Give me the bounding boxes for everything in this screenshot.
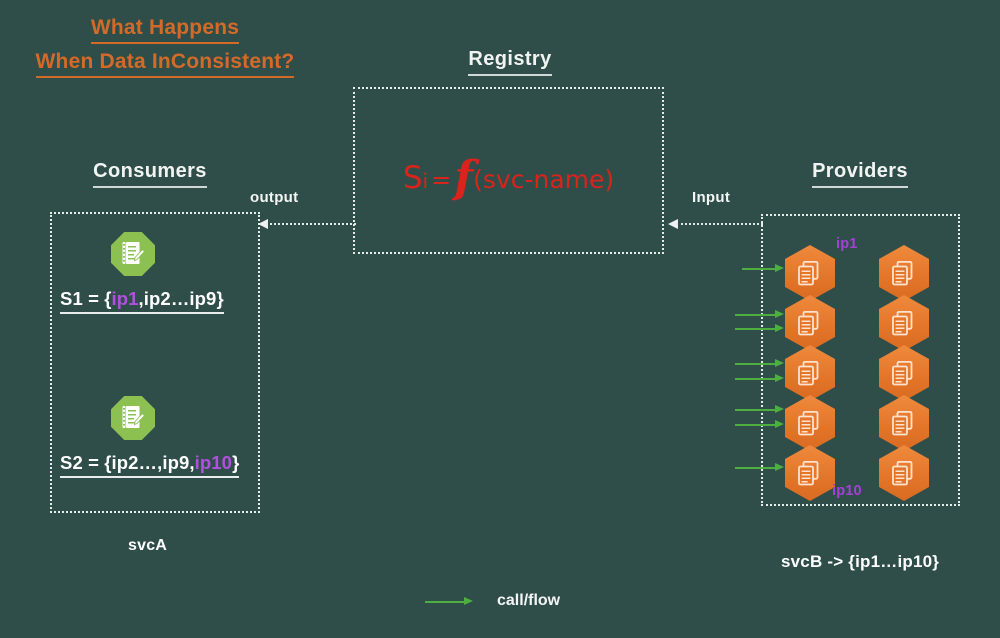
call-flow-arrow-icon (735, 324, 784, 333)
notebook-pencil-icon (111, 396, 155, 440)
consumers-heading: Consumers (45, 160, 255, 188)
consumer-set-suffix: } (232, 452, 239, 473)
page-title-line1: What Happens (91, 14, 239, 44)
input-dotted-arrow-icon (668, 219, 763, 229)
legend-label: call/flow (497, 592, 560, 610)
call-flow-arrow-icon (735, 374, 784, 383)
page-title: What Happens When Data InConsistent? (20, 14, 310, 78)
formula-argument: (svc-name) (473, 165, 614, 194)
call-flow-arrow-icon (742, 264, 784, 273)
consumer-set-expression: S1 = {ip1,ip2…ip9} (60, 288, 224, 314)
input-label: Input (692, 189, 730, 206)
registry-heading-text: Registry (468, 48, 551, 76)
consumer-set-highlight: ip1 (112, 288, 139, 309)
page-title-line2: When Data InConsistent? (36, 48, 295, 78)
output-label: output (250, 189, 298, 206)
call-flow-arrow-icon (735, 405, 784, 414)
provider-ip-label-top: ip1 (836, 236, 858, 252)
consumer-node[interactable]: S2 = {ip2…,ip9,ip10} (60, 396, 239, 478)
call-flow-arrow-icon (735, 310, 784, 319)
output-dotted-arrow-icon (258, 219, 356, 229)
formula-function: f (454, 152, 473, 203)
arrow-right-icon (425, 597, 473, 606)
registry-heading: Registry (405, 48, 615, 76)
consumer-set-suffix: ,ip2…ip9} (139, 288, 224, 309)
formula-s: S (403, 160, 423, 196)
consumers-heading-text: Consumers (93, 160, 207, 188)
formula-equals: = (428, 166, 454, 194)
providers-heading: Providers (755, 160, 965, 188)
notebook-pencil-icon (111, 232, 155, 276)
provider-ip-label-bottom: ip10 (832, 483, 862, 499)
output-arrow-line (266, 223, 356, 225)
call-flow-arrow-icon (735, 463, 784, 472)
consumer-set-prefix: S2 = {ip2…,ip9, (60, 452, 195, 473)
registry-formula: Si=f(svc-name) (353, 152, 664, 203)
consumer-node[interactable]: S1 = {ip1,ip2…ip9} (60, 232, 224, 314)
call-flow-arrow-icon (735, 420, 784, 429)
consumer-set-prefix: S1 = { (60, 288, 112, 309)
providers-heading-text: Providers (812, 160, 908, 188)
consumer-set-expression: S2 = {ip2…,ip9,ip10} (60, 452, 239, 478)
providers-caption: svcB -> {ip1…ip10} (781, 552, 939, 572)
consumer-set-highlight: ip10 (195, 452, 232, 473)
input-arrow-line (676, 223, 763, 225)
consumers-caption: svcA (128, 537, 167, 555)
slide-canvas: What Happens When Data InConsistent? Reg… (0, 0, 1000, 638)
call-flow-arrow-icon (735, 359, 784, 368)
